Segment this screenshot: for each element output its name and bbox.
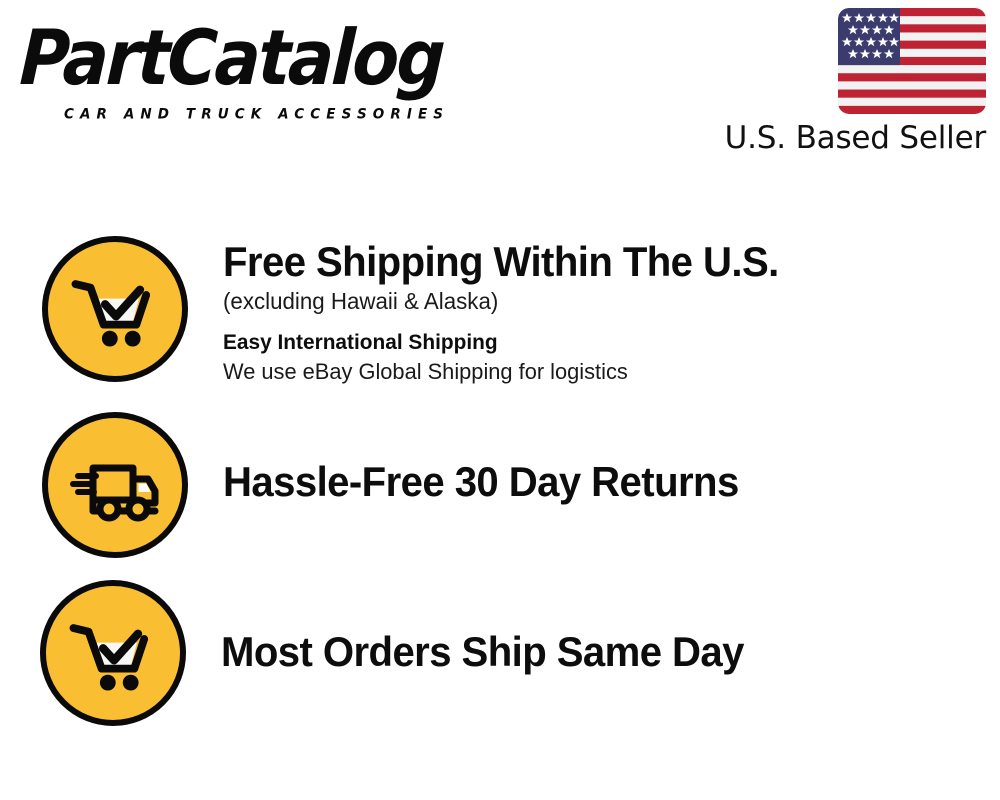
feature-subtitle-bold: Easy International Shipping: [223, 327, 977, 357]
us-flag-icon: [838, 8, 986, 114]
feature-title: Most Orders Ship Same Day: [221, 628, 965, 676]
feature-title: Hassle-Free 30 Day Returns: [223, 458, 965, 506]
brand-tagline: CAR AND TRUCK ACCESSORIES: [64, 106, 449, 123]
header-banner: PartCatalog CAR AND TRUCK ACCESSORIES: [0, 0, 1000, 175]
feature-row-free-shipping: Free Shipping Within The U.S. (excluding…: [0, 236, 1000, 412]
feature-row-returns: Hassle-Free 30 Day Returns: [0, 412, 1000, 582]
feature-title: Free Shipping Within The U.S.: [223, 238, 965, 286]
shopping-cart-check-icon: [42, 236, 188, 382]
feature-icon-wrap: [40, 580, 190, 726]
feature-icon-wrap: [42, 236, 192, 382]
us-based-seller-badge: U.S. Based Seller: [720, 8, 986, 156]
feature-text: Most Orders Ship Same Day: [190, 582, 1000, 676]
feature-text: Free Shipping Within The U.S. (excluding…: [192, 236, 1000, 387]
us-based-seller-label: U.S. Based Seller: [720, 120, 986, 156]
features-list: Free Shipping Within The U.S. (excluding…: [0, 236, 1000, 752]
feature-note: (excluding Hawaii & Alaska): [223, 286, 977, 317]
feature-text: Hassle-Free 30 Day Returns: [192, 412, 1000, 506]
brand-logo[interactable]: PartCatalog CAR AND TRUCK ACCESSORIES: [22, 18, 492, 113]
feature-subtitle: We use eBay Global Shipping for logistic…: [223, 357, 977, 387]
delivery-truck-icon: [42, 412, 188, 558]
brand-wordmark: PartCatalog: [18, 18, 492, 101]
shopping-cart-check-icon: [40, 580, 186, 726]
feature-icon-wrap: [42, 412, 192, 558]
feature-row-same-day-ship: Most Orders Ship Same Day: [0, 582, 1000, 752]
